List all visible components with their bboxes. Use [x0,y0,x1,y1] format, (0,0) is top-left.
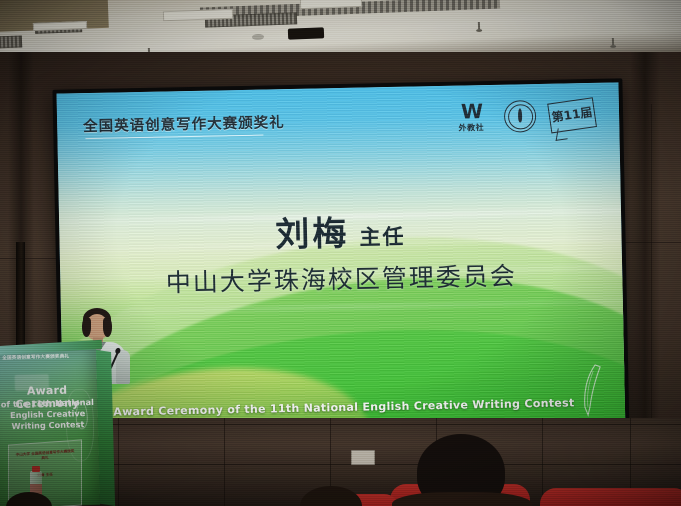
ceiling-sprinkler-3 [612,38,614,46]
publisher-w-icon: W [451,101,491,122]
podium-chinese-title: 全国英语创意写作大赛颁奖典礼 [2,354,88,362]
edition-badge: 第11届 [547,97,597,133]
audience-shoulder-1 [392,492,532,506]
publisher-logo: W 外教社 [451,101,492,134]
lower-wall-joint-1 [118,418,119,506]
screen-surface: 全国英语创意写作大赛颁奖礼 W 外教社 第11届 刘梅主任 [57,82,626,443]
audience-seat-2 [540,488,681,506]
slide-logo-group: W 外教社 第11届 [451,99,596,134]
edition-badge-label: 第11届 [551,103,594,126]
ceiling-vent-3 [0,35,22,48]
edition-badge-tail [556,127,570,141]
wall-seam-2 [624,242,681,243]
ceiling-speaker-box [288,27,324,39]
presenter-hair-left [82,318,91,337]
photo-scene: 全国英语创意写作大赛颁奖礼 W 外教社 第11届 刘梅主任 [0,0,681,506]
ceiling-sprinkler-2 [478,22,480,30]
speaker-role: 主任 [359,224,405,250]
presenter-hair-right [103,318,112,337]
wall-seam-3 [651,104,652,454]
presenter-arm-right [116,350,130,384]
speaker-name: 刘梅 [275,214,350,255]
slide-header-title: 全国英语创意写作大赛颁奖礼 [83,111,285,136]
quill-pen-icon [576,363,603,420]
wall-seam-1 [0,258,60,259]
publisher-name-label: 外教社 [451,122,491,134]
bottle-cap [32,466,40,472]
university-seal-icon [504,100,537,133]
lower-wall-joint-2 [224,418,225,506]
wall-outlet [351,450,375,465]
acrylic-line-2: 刘梅 主任 [15,471,75,480]
wall-band-2 [630,52,660,452]
projection-screen: 全国英语创意写作大赛颁奖礼 W 外教社 第11届 刘梅主任 [57,82,626,443]
acrylic-line-1: 中山大学 全国英语创意写作大赛颁奖典礼 [15,449,75,463]
